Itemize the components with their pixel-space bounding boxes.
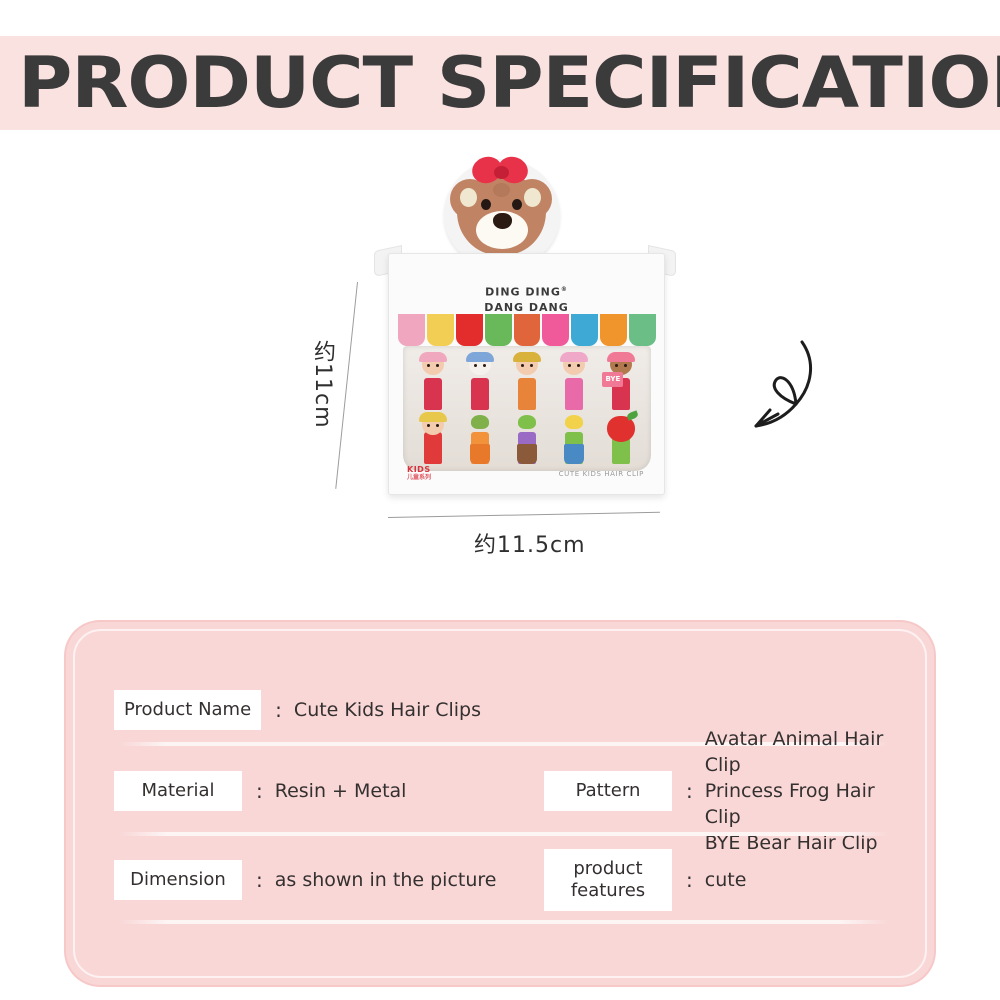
clip-eye-right <box>436 364 439 367</box>
bunting-flag-8 <box>600 314 627 346</box>
bunting-flag-1 <box>398 314 425 346</box>
apple-shape <box>607 416 635 442</box>
clip-hat <box>607 352 635 362</box>
spec-cell-product-features: product features : cute <box>544 849 888 911</box>
spec-colon: : <box>256 868 263 892</box>
clip-body <box>518 378 536 410</box>
box-window: BYE <box>403 346 651 471</box>
dimension-label-width: 约11.5cm <box>474 527 586 559</box>
clip-body <box>565 378 583 410</box>
spec-cell-material: Material : Resin + Metal <box>114 771 544 811</box>
yellow-flower-clip <box>556 412 592 464</box>
table-row: Material : Resin + Metal Pattern : Avata… <box>114 746 888 836</box>
clip-eye-right <box>530 364 533 367</box>
girl-red-hat-clip <box>415 412 451 464</box>
specifications-table: Product Name : Cute Kids Hair Clips Mate… <box>114 674 888 963</box>
kids-subtext: 儿童系列 <box>407 474 431 482</box>
curly-arrow-down-left-icon <box>726 328 836 438</box>
clip-hat <box>419 352 447 362</box>
spec-value-product-features: cute <box>705 867 747 893</box>
bear-eye-right <box>512 199 522 210</box>
spec-value-material: Resin + Metal <box>275 778 407 804</box>
product-photo: DING DING® DANG DANG BYE KIDS 儿童系列 CUTE … <box>0 130 1000 600</box>
clip-hat <box>419 412 447 422</box>
white-bunny-clip <box>462 352 498 410</box>
bunting-flag-9 <box>629 314 656 346</box>
spec-label-product-name: Product Name <box>114 690 261 730</box>
clip-top-shape <box>518 415 536 429</box>
clip-eye-right <box>483 364 486 367</box>
hair-clip-row-bottom <box>409 412 645 464</box>
clip-top-shape <box>471 415 489 429</box>
apple-leaf <box>626 410 639 420</box>
girl-with-hat-clip <box>509 352 545 410</box>
table-row: Dimension : as shown in the picture prod… <box>114 836 888 924</box>
spec-colon: : <box>275 698 282 722</box>
clip-pot <box>564 444 584 464</box>
clip-body <box>471 378 489 410</box>
brand-line-1: DING DING <box>485 286 561 299</box>
bow-knot <box>494 166 509 179</box>
spec-label-dimension: Dimension <box>114 860 242 900</box>
brand-trademark-icon: ® <box>561 286 568 293</box>
bye-tag: BYE <box>602 372 623 387</box>
girl-pink-hood-clip <box>415 352 451 410</box>
bunting-flag-7 <box>571 314 598 346</box>
red-apple-clip <box>603 412 639 464</box>
spec-colon: : <box>686 779 693 803</box>
bear-nose <box>493 213 512 229</box>
bye-bear-clip: BYE <box>603 352 639 410</box>
clip-pot <box>517 444 537 464</box>
bear-forehead-bump <box>493 183 510 197</box>
bear-ear-inner-right <box>524 188 541 207</box>
page-title: PRODUCT SPECIFICATIONS <box>18 36 1000 130</box>
spec-cell-product-name: Product Name : Cute Kids Hair Clips <box>114 690 544 730</box>
spec-label-pattern: Pattern <box>544 771 672 811</box>
product-box: DING DING® DANG DANG BYE KIDS 儿童系列 CUTE … <box>388 253 665 495</box>
bunting-flag-4 <box>485 314 512 346</box>
clip-eye-left <box>521 364 524 367</box>
clip-eye-left <box>474 364 477 367</box>
bunting-flag-2 <box>427 314 454 346</box>
hair-clip-row-top: BYE <box>409 352 645 410</box>
spec-value-dimension: as shown in the picture <box>275 867 497 893</box>
kids-text: KIDS <box>407 466 431 474</box>
bear-eye-left <box>481 199 491 210</box>
spec-colon: : <box>256 779 263 803</box>
spec-label-material: Material <box>114 771 242 811</box>
box-brand: DING DING® DANG DANG <box>389 282 664 315</box>
bunting-flag-5 <box>514 314 541 346</box>
clip-hat <box>466 352 494 362</box>
box-footer-kids-logo: KIDS 儿童系列 <box>407 466 431 482</box>
bunting-flag-6 <box>542 314 569 346</box>
clip-eye-left <box>427 424 430 427</box>
spec-cell-dimension: Dimension : as shown in the picture <box>114 860 544 900</box>
clip-body <box>424 378 442 410</box>
dimension-line-horizontal <box>388 512 660 518</box>
bunting-flag-3 <box>456 314 483 346</box>
clip-hat <box>560 352 588 362</box>
bear-ear-inner-left <box>460 188 477 207</box>
bunting-flags <box>398 314 656 346</box>
carrot-clip <box>462 412 498 464</box>
clip-hat <box>513 352 541 362</box>
spec-colon: : <box>686 868 693 892</box>
box-footer-product-text: CUTE KIDS HAIR CLIP <box>559 470 644 478</box>
clip-body <box>424 432 442 464</box>
potted-plant-clip <box>509 412 545 464</box>
clip-eye-left <box>427 364 430 367</box>
dimension-label-height: 约11cm <box>306 340 338 429</box>
princess-girl-clip <box>556 352 592 410</box>
specifications-panel: Product Name : Cute Kids Hair Clips Mate… <box>66 622 934 985</box>
clip-pot <box>470 444 490 464</box>
spec-value-product-name: Cute Kids Hair Clips <box>294 697 481 723</box>
clip-top-shape <box>565 415 583 429</box>
brand-line-2: DANG DANG <box>484 301 569 314</box>
dimension-line-vertical <box>335 282 358 489</box>
table-row-spacer <box>114 924 888 958</box>
clip-eye-right <box>436 424 439 427</box>
spec-label-product-features: product features <box>544 849 672 911</box>
